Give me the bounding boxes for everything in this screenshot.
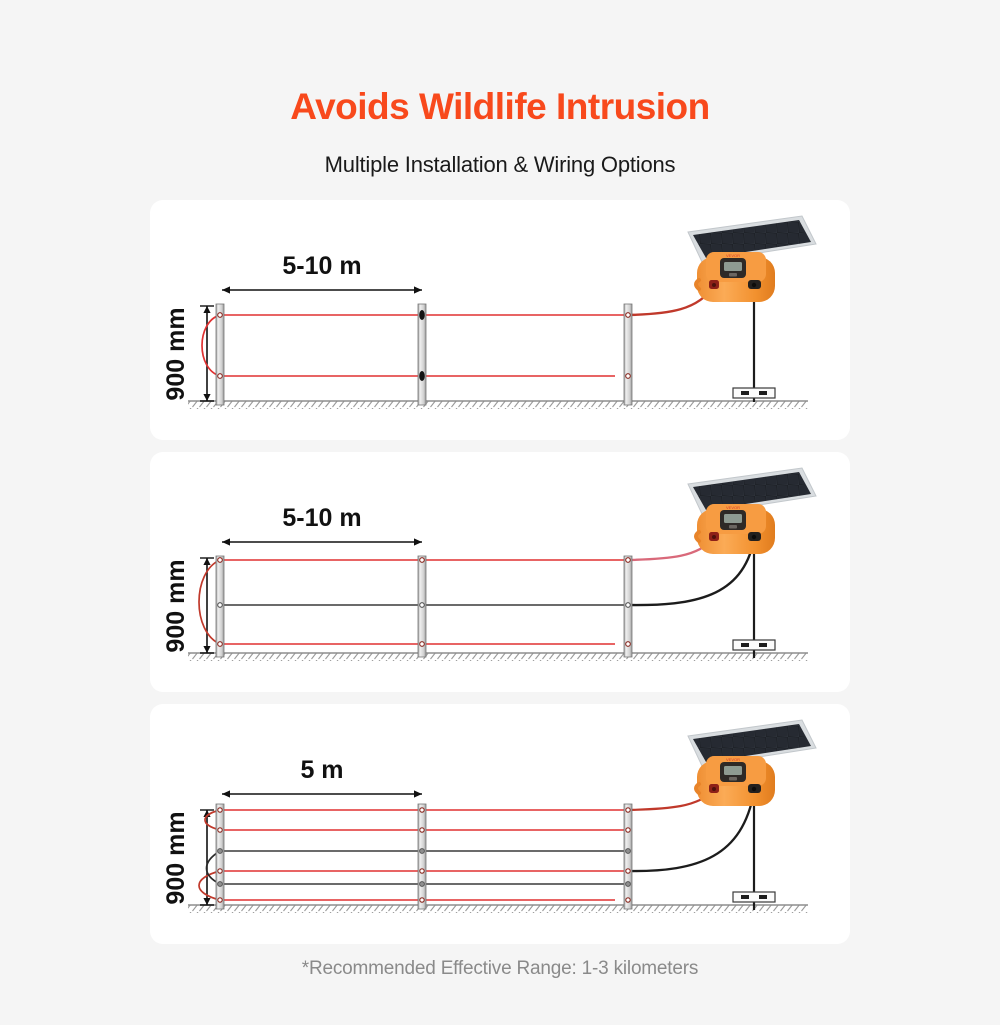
- height-label-2: 900 mm: [162, 560, 190, 653]
- span-label-2: 5-10 m: [282, 504, 361, 532]
- diagram-card-list: 900 mm 5-10 m: [0, 200, 1000, 944]
- fence-post-1c: [624, 304, 632, 405]
- height-label-3: 900 mm: [162, 812, 190, 905]
- diagram-card-1: 900 mm 5-10 m: [150, 200, 850, 440]
- energizer-body: VEVOR: [696, 756, 775, 806]
- diagram-card-3: 900 mm 5 m: [150, 704, 850, 944]
- ground-line: [188, 905, 808, 913]
- diagram-1-svg: 900 mm 5-10 m: [150, 200, 850, 440]
- live-terminal-red: [709, 280, 719, 289]
- energizer-body: VEVOR: [696, 252, 775, 302]
- fence-wires-3: [199, 810, 630, 900]
- footer-note: *Recommended Effective Range: 1-3 kilome…: [0, 958, 1000, 980]
- span-label-3: 5 m: [300, 756, 343, 784]
- ground-rod-3: [733, 892, 775, 902]
- fence-post-1b: [418, 304, 426, 405]
- span-dimension-2: 5-10 m: [222, 504, 422, 546]
- page-title: Avoids Wildlife Intrusion: [0, 25, 1000, 128]
- ground-rod-2: [733, 640, 775, 650]
- live-terminal-red: [709, 784, 719, 793]
- energizer-body: VEVOR: [696, 504, 775, 554]
- earth-terminal-black: [748, 280, 761, 289]
- earth-terminal-black: [748, 784, 761, 793]
- fence-post-3c: [624, 804, 632, 909]
- solar-energizer-3: VEVOR: [688, 720, 816, 806]
- product-infographic: Avoids Wildlife Intrusion Multiple Insta…: [0, 25, 1000, 1025]
- diagram-2-svg: 900 mm 5-10 m: [150, 452, 850, 692]
- ground-line: [188, 653, 808, 661]
- span-dimension-1: 5-10 m: [222, 252, 422, 294]
- brand-logo: VEVOR: [726, 505, 740, 510]
- diagram-3-svg: 900 mm 5 m: [150, 704, 850, 944]
- ground-rod-1: [733, 388, 775, 398]
- fence-wires-1: [202, 315, 630, 376]
- span-dimension-3: 5 m: [222, 756, 422, 798]
- solar-energizer-1: VEVOR: [688, 216, 816, 302]
- brand-logo: VEVOR: [726, 253, 740, 258]
- fence-post-3a: [216, 804, 224, 909]
- fence-post-2c: [624, 556, 632, 657]
- fence-wires-2: [199, 560, 630, 644]
- height-label-1: 900 mm: [162, 308, 190, 401]
- ground-line: [188, 401, 808, 409]
- span-label-1: 5-10 m: [282, 252, 361, 280]
- page-subtitle: Multiple Installation & Wiring Options: [0, 152, 1000, 178]
- solar-energizer-2: VEVOR: [688, 468, 816, 554]
- diagram-card-2: 900 mm 5-10 m: [150, 452, 850, 692]
- fence-post-3b: [418, 804, 426, 909]
- height-dimension-1: 900 mm: [162, 306, 214, 401]
- earth-terminal-black: [748, 532, 761, 541]
- live-terminal-red: [709, 532, 719, 541]
- fence-post-2b: [418, 556, 426, 657]
- brand-logo: VEVOR: [726, 757, 740, 762]
- fence-post-2a: [216, 556, 224, 657]
- fence-post-1a: [216, 304, 224, 405]
